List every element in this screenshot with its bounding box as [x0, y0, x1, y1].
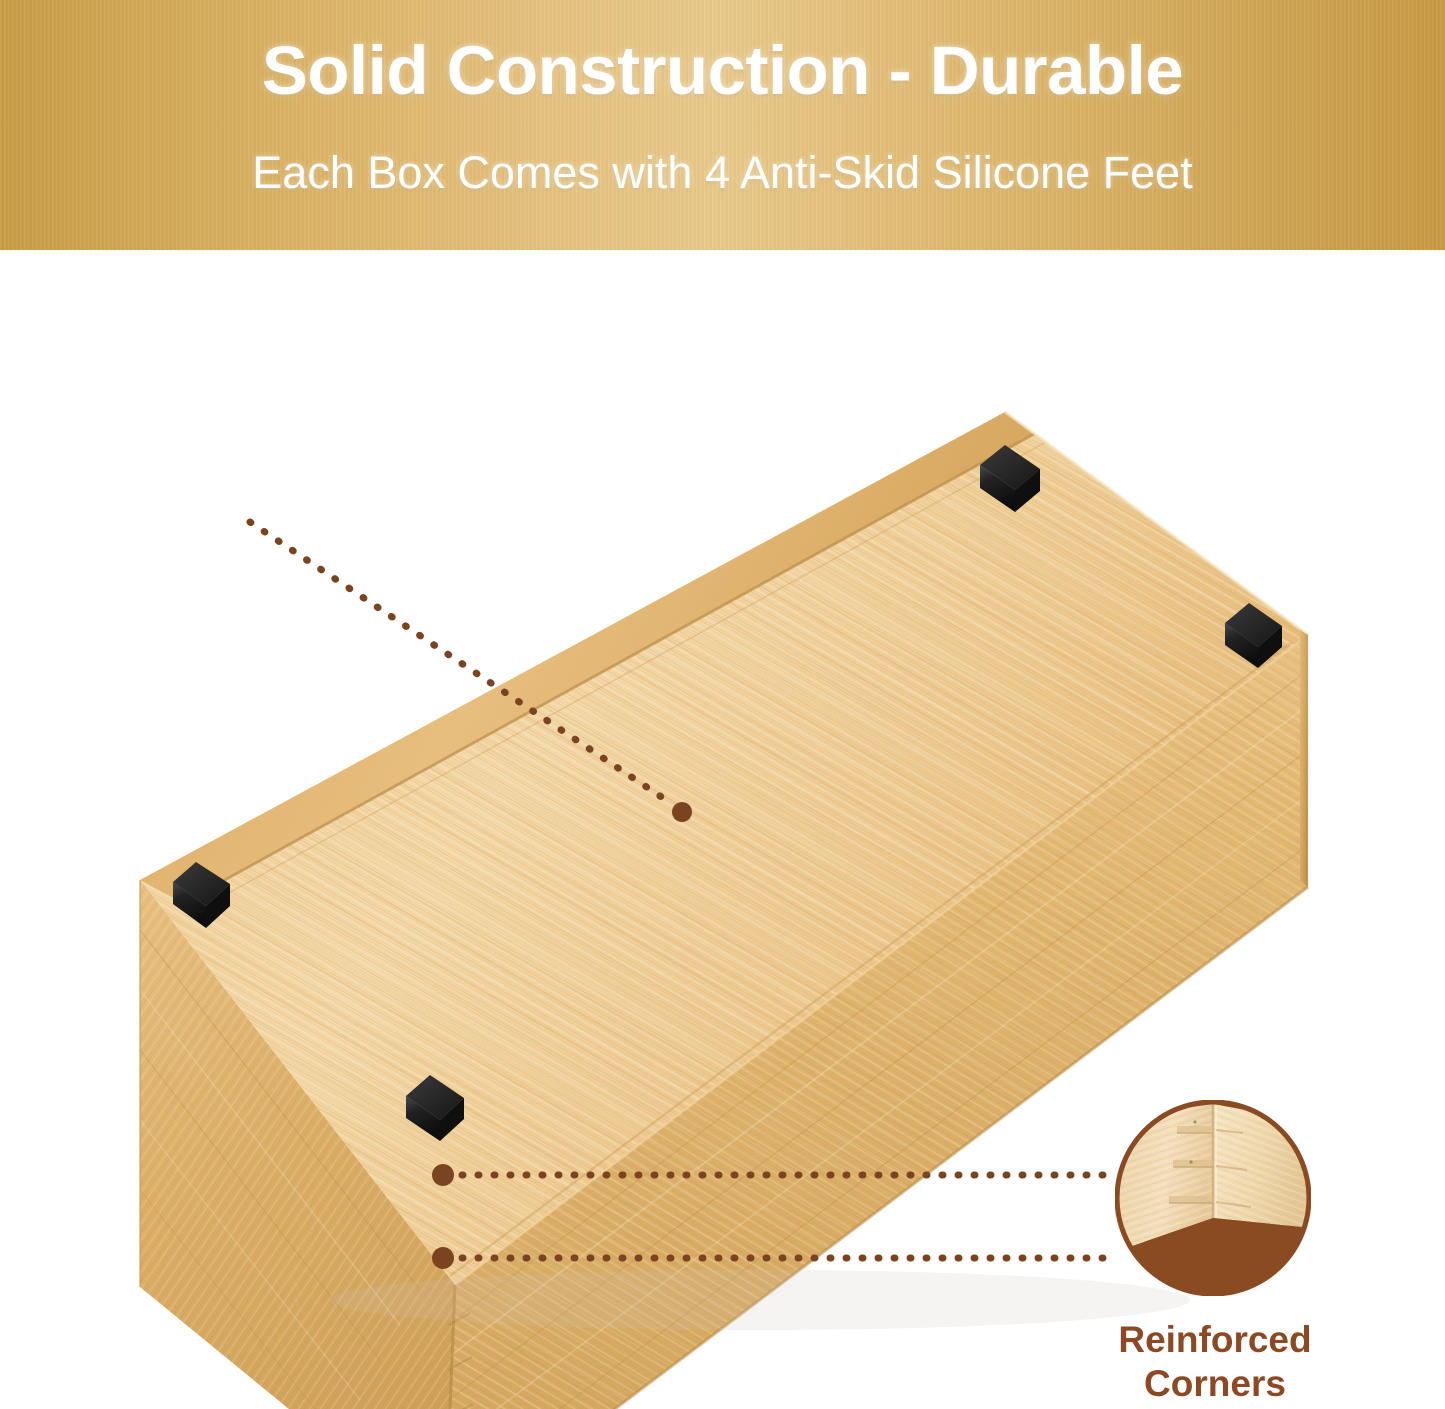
box-right-end-face [1300, 630, 1308, 887]
corners-callout-line-1: Reinforced [1060, 1318, 1370, 1362]
corners-callout: Reinforced Corners [1060, 1318, 1370, 1405]
banner-title: Solid Construction - Durable [0, 36, 1445, 105]
banner-subtitle: Each Box Comes with 4 Anti-Skid Silicone… [0, 150, 1445, 195]
reinforced-corner-inset [1115, 1100, 1311, 1296]
corners-callout-line-2: Corners [1060, 1362, 1370, 1406]
header-banner: Solid Construction - Durable Each Box Co… [0, 0, 1445, 250]
product-feature-image: Solid Construction - Durable Each Box Co… [0, 0, 1445, 1409]
